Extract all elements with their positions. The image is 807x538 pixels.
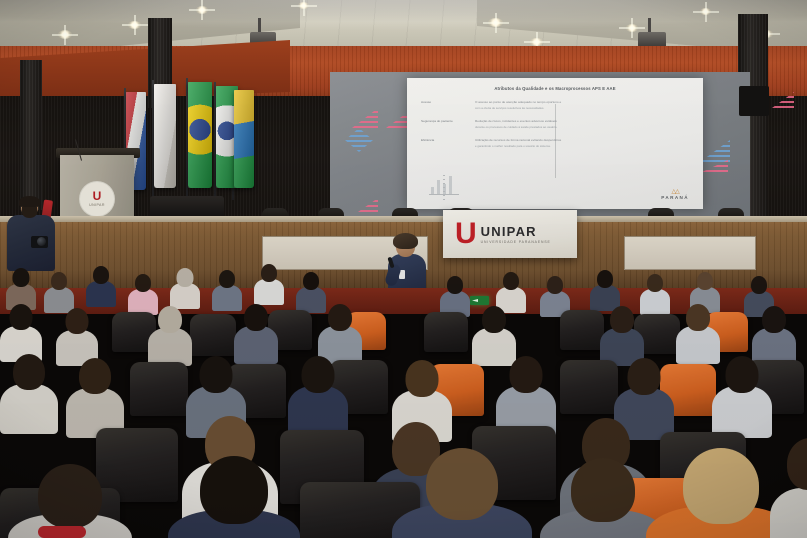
audience-member: [440, 276, 470, 314]
podium-logo-name: UNIPAR: [89, 203, 105, 207]
audience-member: [8, 464, 132, 538]
slide-row: Acesso O acesso ao ponto de atenção adeq…: [421, 100, 693, 110]
audience-member: [496, 272, 526, 310]
slide-row-label: Segurança do paciente: [421, 119, 467, 129]
audience-head: [571, 458, 635, 522]
auditorium-photo: Atributos da Qualidade e os Macroprocess…: [0, 0, 807, 538]
slide-row-text-main: O acesso ao ponto de atenção adequado no…: [475, 100, 561, 104]
audience-member: [0, 304, 42, 360]
audience-head: [135, 274, 151, 292]
audience-head: [13, 354, 45, 390]
slide-chart-bar: [437, 180, 440, 194]
audience-area: MUNICIPIO DE GUAIRA: [0, 252, 807, 538]
audience-member: [170, 268, 200, 306]
audience-head: [647, 274, 663, 292]
audience-member: [66, 358, 124, 436]
ceiling-light: [298, 2, 309, 9]
audience-torso: [712, 386, 772, 438]
parana-logo: △△ PARANÁ: [661, 189, 689, 200]
audience-head: [302, 356, 335, 393]
slide-row-label: Acesso: [421, 100, 467, 110]
slide-chart-bar: [431, 187, 434, 194]
flag-brazil: [188, 82, 212, 188]
audience-head: [66, 308, 89, 334]
audience-head: [683, 448, 759, 524]
ceiling-light: [58, 30, 72, 39]
audience-head: [10, 304, 33, 330]
audience-head: [158, 306, 182, 333]
audience-member: [86, 266, 116, 304]
slide-row-text: Utilização de recursos de forma racional…: [475, 138, 693, 148]
slide-row: Segurança do paciente Redução de riscos,…: [421, 119, 693, 129]
unipar-banner-subtitle: UNIVERSIDADE PARANAENSE: [481, 240, 551, 244]
slide-row-text: O acesso ao ponto de atenção adequado no…: [475, 100, 693, 110]
audience-member: [168, 456, 300, 538]
audience-head: [482, 306, 506, 333]
slide-row-text-main: Utilização de recursos de forma racional…: [475, 138, 561, 142]
audience-head: [406, 360, 439, 397]
parana-wordmark: PARANÁ: [661, 195, 689, 200]
audience-head: [686, 304, 710, 331]
ceiling-light: [530, 38, 543, 46]
audience-torso: [86, 281, 116, 307]
audience-head: [628, 358, 661, 395]
audience-head: [510, 356, 543, 393]
audience-member: [56, 308, 98, 364]
slide-chart-bar: [449, 176, 452, 194]
unipar-mark-icon: U: [93, 191, 102, 202]
ceiling-light: [700, 8, 711, 15]
audience-member: [600, 306, 644, 364]
audience-head: [787, 438, 807, 490]
audience-head: [503, 272, 519, 290]
audience-head: [200, 356, 233, 393]
unipar-logo-icon: U: [455, 220, 474, 248]
audience-torso: [770, 488, 807, 538]
audience-member: [254, 264, 284, 302]
slide-row-subtext: e garantindo o melhor resultado para o u…: [475, 144, 693, 148]
audience-head: [219, 270, 235, 288]
audience-member: [44, 272, 74, 310]
photographer-hair: [19, 196, 40, 207]
audience-member: [496, 356, 556, 436]
audience-member: [676, 304, 720, 362]
audience-head: [447, 276, 463, 294]
slide-content-rows: Acesso O acesso ao ponto de atenção adeq…: [421, 100, 693, 157]
projected-slide: Atributos da Qualidade e os Macroprocess…: [407, 78, 703, 209]
auditorium-seat: [424, 312, 468, 352]
audience-head: [697, 272, 713, 290]
flag-municipal: [234, 90, 254, 188]
audience-member: [590, 270, 620, 308]
audience-head: [610, 306, 634, 333]
ceiling-light: [488, 18, 503, 27]
slide-title: Atributos da Qualidade e os Macroprocess…: [407, 86, 703, 91]
auditorium-seat: [130, 362, 188, 416]
audience-head: [200, 456, 268, 524]
audience-head: [751, 276, 767, 294]
audience-head: [38, 464, 102, 528]
audience-head: [177, 268, 194, 287]
audience-member: [288, 356, 348, 436]
audience-head: [762, 306, 786, 333]
auditorium-seat: [560, 360, 618, 414]
audience-head: [79, 358, 111, 394]
ceiling-light: [626, 24, 638, 32]
unipar-banner-text: UNIPAR UNIVERSIDADE PARANAENSE: [481, 225, 551, 244]
slide-row-subtext: durante os processos de cuidado à saúde …: [475, 125, 693, 129]
audience-member: [712, 356, 772, 436]
collar-accent: [38, 526, 86, 538]
auditorium-seat: [190, 314, 236, 356]
audience-head: [13, 268, 30, 287]
audience-torso: [0, 384, 58, 434]
audience-member: [212, 270, 242, 308]
podium-unipar-logo: U UNIPAR: [79, 181, 115, 217]
audience-head: [261, 264, 277, 282]
slide-dot-column: [443, 175, 445, 201]
audience-member: [540, 276, 570, 314]
presenter-hair: [393, 233, 418, 249]
camera-lens-icon: [37, 237, 46, 246]
audience-head: [328, 304, 352, 331]
audience-member: [392, 448, 532, 538]
audience-head: [51, 272, 67, 290]
audience-member: [318, 304, 362, 362]
slide-row-subtext: com a oferta de serviços resolutivos às …: [475, 106, 693, 110]
ceiling-light: [196, 6, 208, 14]
flag-stand-base: [150, 196, 224, 218]
audience-head: [726, 356, 759, 393]
audience-member: [6, 268, 36, 306]
audience-head: [426, 448, 498, 520]
slide-row-text: Redução de riscos, incidentes e eventos …: [475, 119, 693, 129]
slide-row: Eficiência Utilização de recursos de for…: [421, 138, 693, 148]
audience-torso: [254, 279, 284, 305]
audience-head: [547, 276, 563, 294]
wall-speaker-box: [739, 86, 769, 116]
ceiling-light: [128, 21, 141, 29]
audience-head: [303, 272, 319, 290]
audience-torso: [640, 289, 670, 315]
audience-head: [597, 270, 613, 288]
unipar-banner: U UNIPAR UNIVERSIDADE PARANAENSE: [443, 210, 577, 258]
unipar-banner-name: UNIPAR: [481, 225, 551, 238]
wall-pillar: [20, 60, 42, 210]
auditorium-seat: [560, 310, 604, 350]
photographer-beard: [22, 207, 37, 218]
audience-head: [244, 304, 268, 331]
audience-member: [234, 304, 278, 362]
slide-row-label: Eficiência: [421, 138, 467, 148]
flag-unipar: [154, 84, 176, 188]
audience-member: [770, 438, 807, 538]
audience-member: [0, 354, 58, 432]
slide-row-text-main: Redução de riscos, incidentes e eventos …: [475, 119, 557, 123]
audience-head: [93, 266, 109, 284]
audience-member: [640, 274, 670, 312]
